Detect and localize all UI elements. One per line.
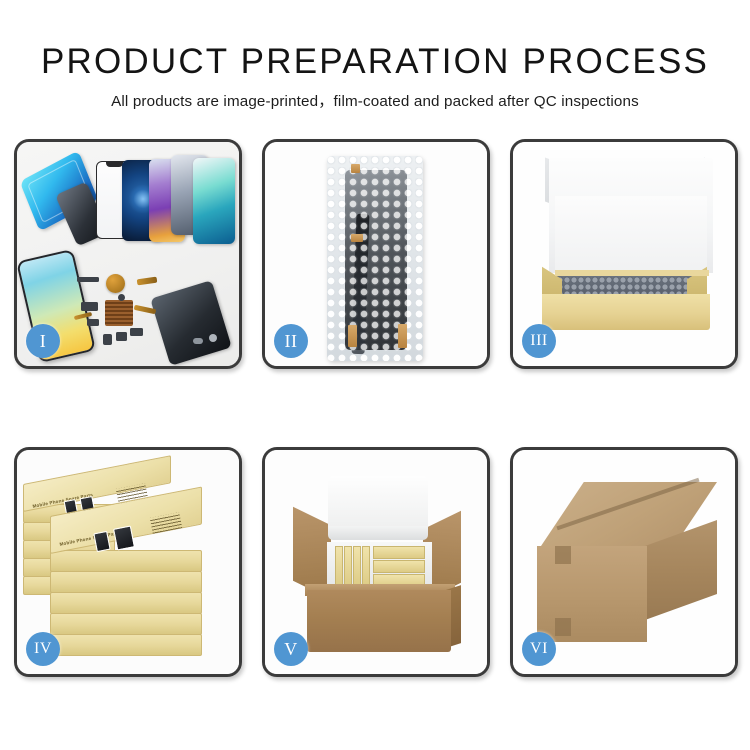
component-chip-icon xyxy=(87,319,99,326)
flex-cable-icon xyxy=(137,277,158,286)
product-preparation-infographic: PRODUCT PREPARATION PROCESS All products… xyxy=(0,0,750,750)
step-card-5[interactable]: V xyxy=(262,447,490,677)
process-steps-grid: I II xyxy=(14,139,738,677)
packed-yellow-box xyxy=(362,546,370,588)
chip-grid-icon xyxy=(105,300,133,326)
tape-patch-icon xyxy=(398,324,407,348)
stacked-box xyxy=(50,571,202,593)
step-card-3[interactable]: III xyxy=(510,139,738,369)
component-chip-icon xyxy=(77,277,99,282)
step-badge-4: IV xyxy=(26,632,60,666)
phone-backplate-icon xyxy=(150,280,232,366)
carton-front-face xyxy=(307,590,451,652)
page-subtitle: All products are image-printed，film-coat… xyxy=(0,92,750,112)
carton-tape-patch-top xyxy=(555,546,571,564)
speaker-coil-icon xyxy=(106,274,125,293)
step-badge-3: III xyxy=(522,324,556,358)
carton-front-face xyxy=(537,546,647,642)
box-tray-top-edge xyxy=(555,270,709,276)
component-screw-icon xyxy=(118,294,125,301)
box-screen-thumbnail xyxy=(113,525,135,550)
component-chip-icon xyxy=(81,302,98,311)
stacked-box xyxy=(50,550,202,572)
step-card-6[interactable]: VI xyxy=(510,447,738,677)
step-badge-6: VI xyxy=(522,632,556,666)
foam-insert-icon xyxy=(555,196,707,274)
packed-yellow-box xyxy=(353,546,361,588)
step-card-4[interactable]: Mobile Phone Spare Parts Mobile Phone Sp… xyxy=(14,447,242,677)
component-chip-icon xyxy=(116,332,127,341)
foam-lid-edge xyxy=(328,526,428,540)
tape-patch-icon xyxy=(348,325,357,347)
step-badge-5: V xyxy=(274,632,308,666)
step-badge-1: I xyxy=(26,324,60,358)
tape-patch-icon xyxy=(351,164,360,173)
packed-yellow-box xyxy=(344,546,352,588)
packed-yellow-box xyxy=(373,546,425,559)
carton-tape-patch-bottom xyxy=(555,618,571,636)
bubble-wrap-bag-icon xyxy=(327,156,423,361)
component-chip-icon xyxy=(193,338,203,344)
step-card-1[interactable]: I xyxy=(14,139,242,369)
stacked-box xyxy=(50,634,202,656)
teal-phone-icon xyxy=(193,158,235,244)
step-card-2[interactable]: II xyxy=(262,139,490,369)
stacked-box xyxy=(50,613,202,635)
bubble-texture-overlay xyxy=(327,156,423,361)
header: PRODUCT PREPARATION PROCESS All products… xyxy=(0,0,750,112)
tape-patch-icon xyxy=(351,234,363,242)
packed-yellow-box xyxy=(335,546,343,588)
box-tray-front xyxy=(542,294,710,330)
step-badge-2: II xyxy=(274,324,308,358)
packed-yellow-box xyxy=(373,560,425,573)
stacked-box xyxy=(50,592,202,614)
component-screw-icon xyxy=(209,334,217,342)
page-title: PRODUCT PREPARATION PROCESS xyxy=(0,42,750,82)
component-chip-icon xyxy=(103,334,112,345)
component-chip-icon xyxy=(130,328,143,336)
